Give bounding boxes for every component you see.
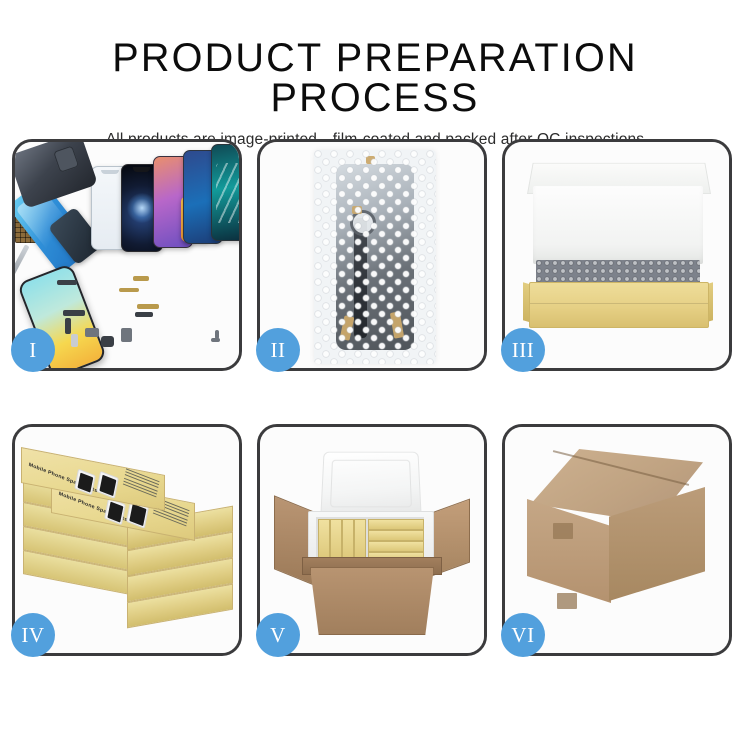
tweezers-tool (15, 244, 30, 283)
speaker-module (101, 336, 114, 347)
spare-part (63, 310, 85, 316)
box-screen-image (74, 469, 96, 496)
step-badge-6: VI (501, 613, 545, 657)
yellow-box-body (529, 282, 709, 328)
packed-box (330, 519, 342, 561)
process-step-panel-1: I (12, 139, 242, 371)
packed-box (354, 519, 366, 561)
step-badge-1: I (11, 328, 55, 372)
white-foam-sheet (533, 186, 703, 264)
packed-box (368, 519, 424, 530)
packed-box (342, 519, 354, 561)
bubble-texture-highlight (314, 150, 436, 364)
spare-part (85, 328, 99, 337)
carton-left-face (527, 499, 611, 603)
spare-part (133, 276, 149, 281)
process-step-panel-2: II (257, 139, 487, 371)
packed-box (318, 519, 330, 561)
packed-box (368, 530, 424, 541)
process-step-panel-3: III (502, 139, 732, 371)
step-badge-4: IV (11, 613, 55, 657)
process-step-panel-5: V (257, 424, 487, 656)
spare-part (65, 318, 71, 334)
battery-part (71, 334, 78, 347)
carton-tape-lower (557, 593, 577, 609)
header: PRODUCT PREPARATION PROCESS All products… (0, 0, 750, 148)
spare-part (119, 288, 139, 292)
step-badge-3: III (501, 328, 545, 372)
camera-module (121, 328, 132, 342)
box-screen-image (96, 471, 119, 499)
spare-part (57, 280, 77, 285)
phone-display-teal (211, 144, 239, 241)
foam-cooler-interior (316, 517, 424, 561)
carton-tape-upper (553, 523, 573, 539)
flex-cable (135, 312, 153, 317)
page-title: PRODUCT PREPARATION PROCESS (4, 38, 747, 118)
carton-front-wall (310, 567, 434, 635)
product-preparation-infographic: PRODUCT PREPARATION PROCESS All products… (0, 0, 750, 750)
flex-cable (137, 304, 159, 309)
screw-part (215, 330, 219, 339)
wave-pattern (216, 163, 239, 223)
packed-box (368, 541, 424, 552)
foam-cooler-lid (320, 452, 421, 517)
process-step-panel-6: VI (502, 424, 732, 656)
process-step-panel-4: Mobile Phone Spare Parts Mobile Phone Sp… (12, 424, 242, 656)
process-step-grid: I II (12, 139, 741, 688)
box-print-lines (122, 468, 159, 499)
step-badge-5: V (256, 613, 300, 657)
step-badge-2: II (256, 328, 300, 372)
bubble-wrap-bag (314, 150, 436, 364)
